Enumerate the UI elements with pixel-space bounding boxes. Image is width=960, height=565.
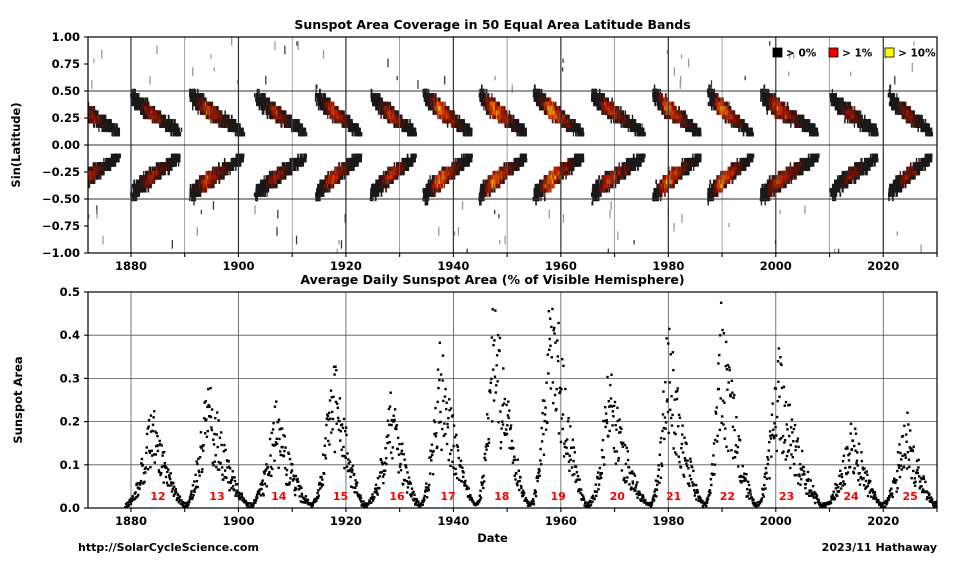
butterfly-cell [192,67,193,76]
butterfly-cell [170,132,172,136]
butterfly-cell [143,171,144,175]
butterfly-cell [213,184,214,188]
butterfly-cell [150,184,151,188]
butterfly-cell [200,193,201,197]
butterfly-cell [149,76,150,85]
butterfly-cell [154,106,155,110]
butterfly-cell [152,180,154,184]
butterfly-cell [192,106,193,110]
butterfly-cell [199,175,201,179]
butterfly-cell [212,102,213,106]
butterfly-cell [214,67,215,71]
butterfly-cell [205,97,206,101]
butterfly-cell [197,93,198,97]
butterfly-cell [165,171,166,175]
butterfly-cell [156,46,157,55]
butterfly-cell [174,119,176,123]
butterfly-cell [193,201,194,205]
butterfly-cell [227,171,228,175]
solar-cycle-figure: −1.00−0.75−0.50−0.250.000.250.500.751.00… [0,0,960,565]
butterfly-cell [133,180,135,184]
butterfly-cell [221,110,222,114]
butterfly-cell [171,167,172,171]
butterfly-cell [190,184,192,188]
butterfly-panel: −1.00−0.75−0.50−0.250.000.250.500.751.00… [9,17,937,273]
butterfly-cell [168,171,170,175]
butterfly-cell [138,193,140,197]
butterfly-cell [179,158,180,162]
butterfly-cell [213,201,214,210]
butterfly-cell [179,154,181,158]
butterfly-cell [212,167,213,171]
butterfly-cell [178,162,179,166]
butterfly-cell [137,106,139,110]
butterfly-cell [168,115,170,119]
butterfly-cell [203,93,205,97]
butterfly-cell [175,162,176,166]
butterfly-cell [177,123,179,127]
butterfly-cell [223,175,225,179]
butterfly-cell [154,119,155,123]
butterfly-cell [148,188,150,192]
butterfly-cell [224,158,226,162]
butterfly-cell [172,240,173,249]
figure-canvas: −1.00−0.75−0.50−0.250.000.250.500.751.00… [0,0,960,565]
butterfly-cell [218,162,220,166]
butterfly-cell [215,119,216,123]
butterfly-cell [210,119,212,123]
butterfly-cell [224,110,225,114]
butterfly-cell [170,167,171,171]
butterfly-cell [201,210,202,214]
butterfly-cell [181,128,182,132]
butterfly-cell [179,128,180,132]
butterfly-cell [148,102,150,106]
butterfly-cell [138,93,139,97]
butterfly-cell [172,119,173,123]
butterfly-cell [197,227,198,236]
butterfly-cell [217,106,218,110]
butterfly-cell [145,97,147,101]
butterfly-cell [143,97,145,101]
butterfly-cell [160,175,162,179]
butterfly-cell [147,97,149,101]
butterfly-cell [210,54,211,58]
butterfly-cell [158,162,159,166]
butterfly-cell [179,132,181,136]
butterfly-cell [215,180,217,184]
butterfly-cell [145,188,147,192]
butterfly-cell [159,110,161,114]
butterfly-cell [154,180,156,184]
butterfly-cell [198,110,199,114]
butterfly-cell [150,167,151,171]
butterfly-cell [218,180,220,184]
butterfly-cell [165,115,167,119]
butterfly-cell [206,188,207,192]
butterfly-cell [219,123,221,127]
